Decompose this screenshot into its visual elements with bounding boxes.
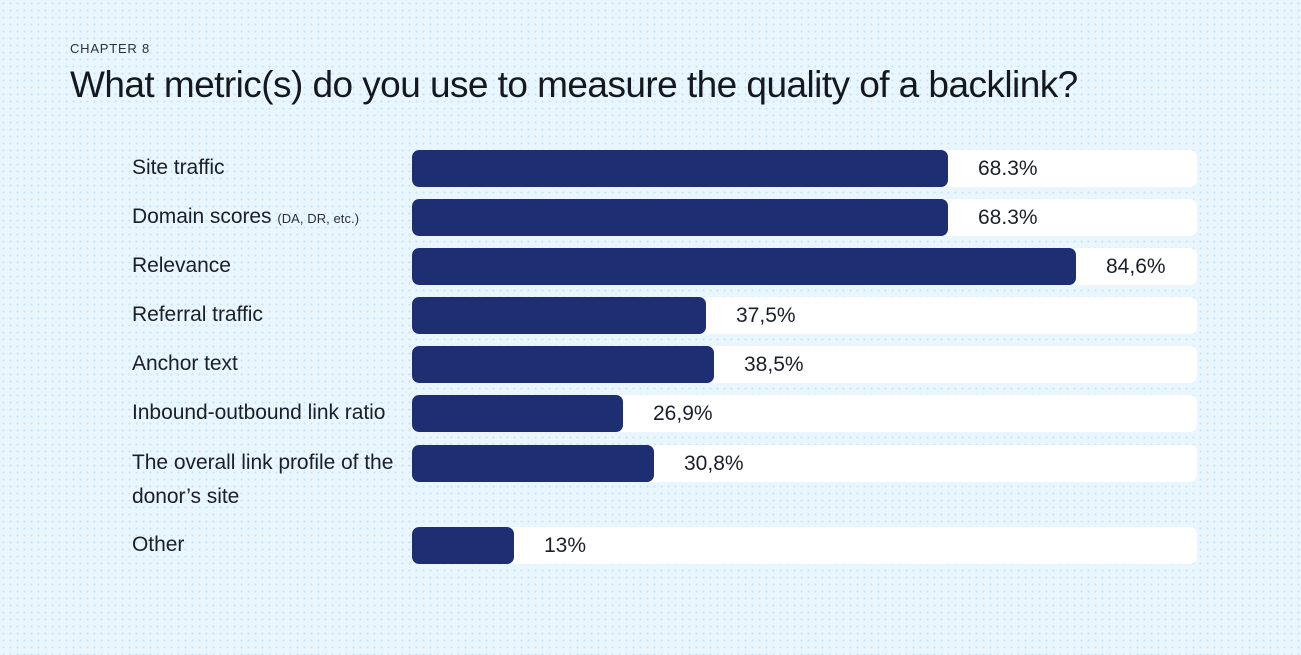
- bar-fill: [412, 150, 948, 187]
- bar-category-text: Referral traffic: [132, 303, 263, 326]
- chart-row: Domain scores (DA, DR, etc.)68.3%: [132, 199, 1301, 236]
- bar-fill: [412, 527, 514, 564]
- bar-category-label: Relevance: [132, 248, 412, 283]
- bar-category-text: Relevance: [132, 254, 231, 277]
- bar-category-label: Referral traffic: [132, 297, 412, 332]
- bar-track: 68.3%: [412, 199, 1197, 236]
- bar-fill: [412, 297, 706, 334]
- bar-category-text: The overall link profile of the donor’s …: [132, 451, 393, 508]
- bar-track: 68.3%: [412, 150, 1197, 187]
- bar-category-text: Site traffic: [132, 156, 224, 179]
- chart-row: Other13%: [132, 527, 1301, 564]
- bar-value-label: 38,5%: [744, 346, 804, 383]
- bar-value-label: 30,8%: [684, 445, 744, 482]
- bar-value-label: 84,6%: [1106, 248, 1166, 285]
- chart-row: Relevance84,6%: [132, 248, 1301, 285]
- chart-row: Site traffic68.3%: [132, 150, 1301, 187]
- bar-value-label: 68.3%: [978, 150, 1038, 187]
- bar-track: 26,9%: [412, 395, 1197, 432]
- bar-value-label: 26,9%: [653, 395, 713, 432]
- bar-value-label: 68.3%: [978, 199, 1038, 236]
- bar-category-label: Inbound-outbound link ratio: [132, 395, 412, 430]
- bar-value-label: 37,5%: [736, 297, 796, 334]
- bar-track: 30,8%: [412, 445, 1197, 482]
- header: CHAPTER 8 What metric(s) do you use to m…: [70, 42, 1261, 107]
- bar-category-text: Other: [132, 533, 184, 556]
- chapter-label: CHAPTER 8: [70, 42, 1261, 56]
- chart-row: Referral traffic37,5%: [132, 297, 1301, 334]
- bar-category-text: Anchor text: [132, 352, 238, 375]
- bar-track: 37,5%: [412, 297, 1197, 334]
- bar-category-label: Other: [132, 527, 412, 562]
- bar-fill: [412, 445, 654, 482]
- bar-track: 84,6%: [412, 248, 1197, 285]
- chart-row: Inbound-outbound link ratio26,9%: [132, 395, 1301, 432]
- bar-track: 38,5%: [412, 346, 1197, 383]
- bar-category-subtext: (DA, DR, etc.): [277, 211, 359, 226]
- bar-fill: [412, 199, 948, 236]
- bar-category-label: Domain scores (DA, DR, etc.): [132, 199, 412, 236]
- bar-track: 13%: [412, 527, 1197, 564]
- chart-row: Anchor text38,5%: [132, 346, 1301, 383]
- bar-value-label: 13%: [544, 527, 586, 564]
- bar-fill: [412, 346, 714, 383]
- bar-category-text: Inbound-outbound link ratio: [132, 401, 385, 424]
- bar-category-label: Site traffic: [132, 150, 412, 185]
- bar-chart: Site traffic68.3%Domain scores (DA, DR, …: [132, 150, 1301, 576]
- page-title: What metric(s) do you use to measure the…: [70, 64, 1261, 107]
- slide-page: CHAPTER 8 What metric(s) do you use to m…: [0, 0, 1301, 655]
- bar-category-label: Anchor text: [132, 346, 412, 381]
- bar-category-label: The overall link profile of the donor’s …: [132, 445, 412, 514]
- bar-category-text: Domain scores: [132, 205, 272, 228]
- bar-fill: [412, 248, 1076, 285]
- bar-fill: [412, 395, 623, 432]
- chart-row: The overall link profile of the donor’s …: [132, 445, 1301, 514]
